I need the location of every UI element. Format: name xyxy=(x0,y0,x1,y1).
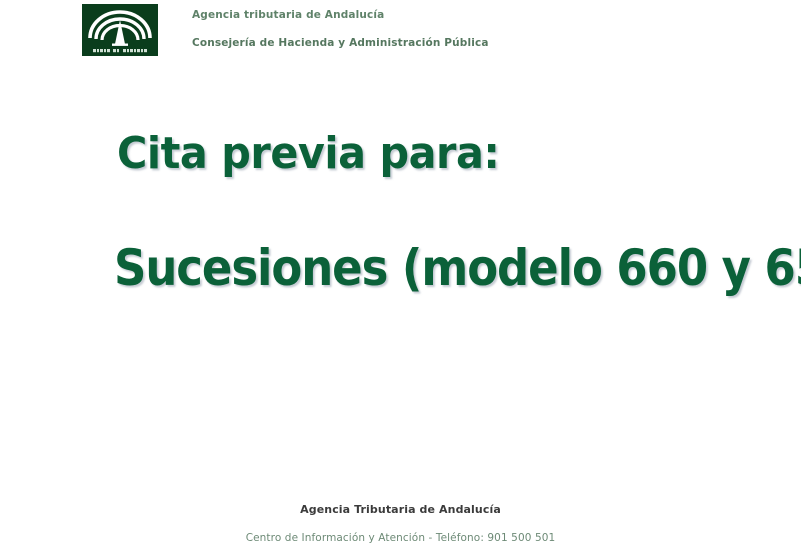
footer-agency-name: Agencia Tributaria de Andalucía xyxy=(0,504,801,515)
page-title-line-1: Cita previa para: xyxy=(117,132,499,176)
footer: Agencia Tributaria de Andalucía Centro d… xyxy=(0,495,801,553)
header-org-block: Agencia tributaria de Andalucía Consejer… xyxy=(192,5,752,48)
slide-canvas: Agencia tributaria de Andalucía Consejer… xyxy=(0,0,801,553)
page-title-line-2: Sucesiones (modelo 660 y 650) xyxy=(114,243,801,293)
footer-contact-info: Centro de Información y Atención - Teléf… xyxy=(0,533,801,544)
header: Agencia tributaria de Andalucía Consejer… xyxy=(0,0,801,70)
main-content: Cita previa para: Sucesiones (modelo 660… xyxy=(0,110,801,440)
header-department-name: Consejería de Hacienda y Administración … xyxy=(192,38,752,49)
header-agency-name: Agencia tributaria de Andalucía xyxy=(192,10,752,21)
junta-de-andalucia-emblem-icon xyxy=(82,4,158,56)
